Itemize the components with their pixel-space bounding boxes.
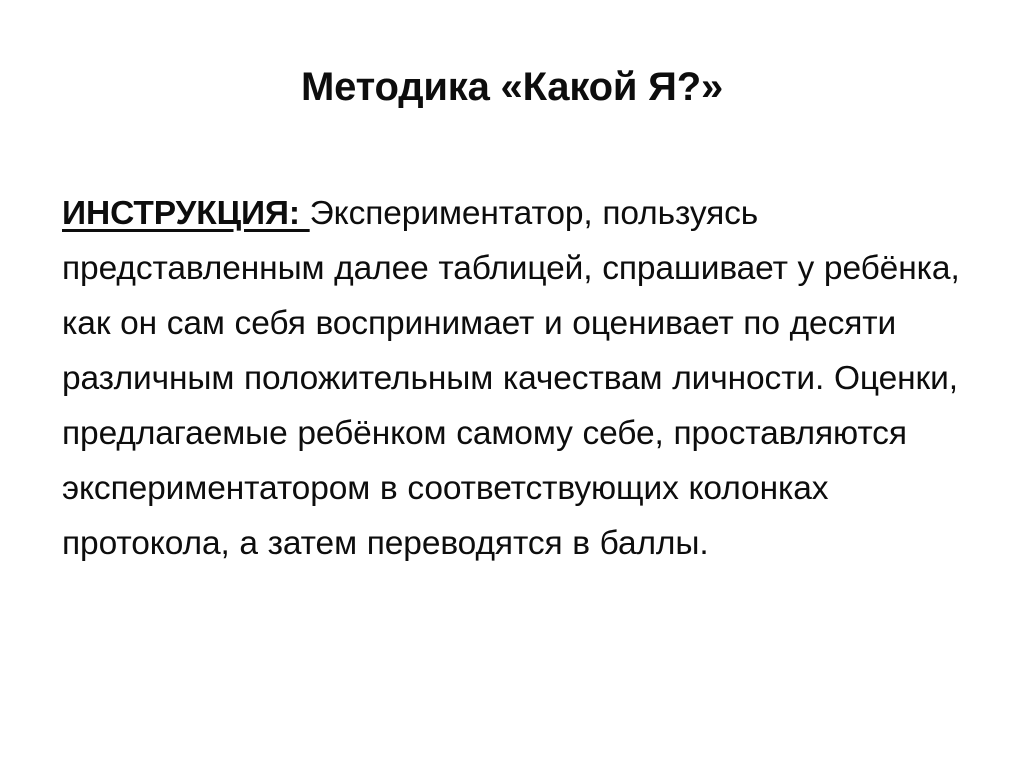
page-title: Методика «Какой Я?» xyxy=(0,62,1024,112)
slide-canvas: Методика «Какой Я?» ИНСТРУКЦИЯ: Эксперим… xyxy=(0,0,1024,767)
instruction-paragraph: ИНСТРУКЦИЯ: Экспериментатор, пользуясь п… xyxy=(62,186,977,571)
instruction-body-text: Экспериментатор, пользуясь представленны… xyxy=(62,195,960,562)
instruction-label: ИНСТРУКЦИЯ: xyxy=(62,195,310,232)
instruction-block: ИНСТРУКЦИЯ: Экспериментатор, пользуясь п… xyxy=(62,186,977,571)
